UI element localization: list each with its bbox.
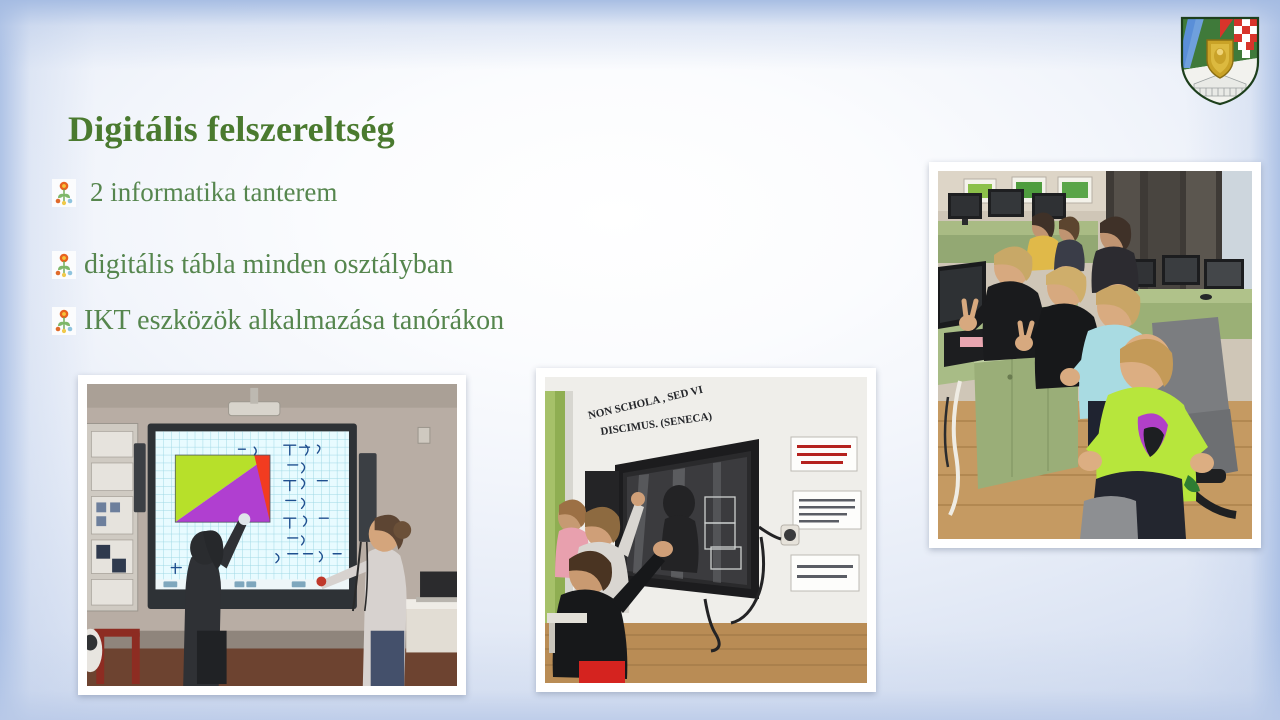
bullet-item-3: IKT eszközök alkalmazása tanórákon xyxy=(52,306,504,337)
bullet-item-2: digitális tábla minden osztályban xyxy=(52,250,453,281)
photo-whiteboard-math-lesson xyxy=(78,375,466,695)
bullet-item-1: 2 informatika tanterem xyxy=(52,178,337,208)
photo-image xyxy=(938,171,1252,539)
photo-computer-lab-students xyxy=(929,162,1261,548)
flower-bullet-icon xyxy=(52,307,76,335)
slide-canvas: Digitális felszereltség 2 informatika ta… xyxy=(0,0,1280,720)
slide-title: Digitális felszereltség xyxy=(68,108,395,150)
bullet-item-2-label: digitális tábla minden osztályban xyxy=(84,250,453,281)
flower-bullet-icon xyxy=(52,179,76,207)
bullet-item-1-label: 2 informatika tanterem xyxy=(84,178,337,208)
photo-image xyxy=(87,384,457,686)
photo-image: NON SCHOLA , SED VI DISCIMUS. (SENECA) xyxy=(545,377,867,683)
bullet-item-3-label: IKT eszközök alkalmazása tanórákon xyxy=(84,306,504,337)
flower-bullet-icon xyxy=(52,251,76,279)
photo-touchscreen-display-lesson: NON SCHOLA , SED VI DISCIMUS. (SENECA) xyxy=(536,368,876,692)
school-coat-of-arms-logo xyxy=(1174,12,1266,108)
